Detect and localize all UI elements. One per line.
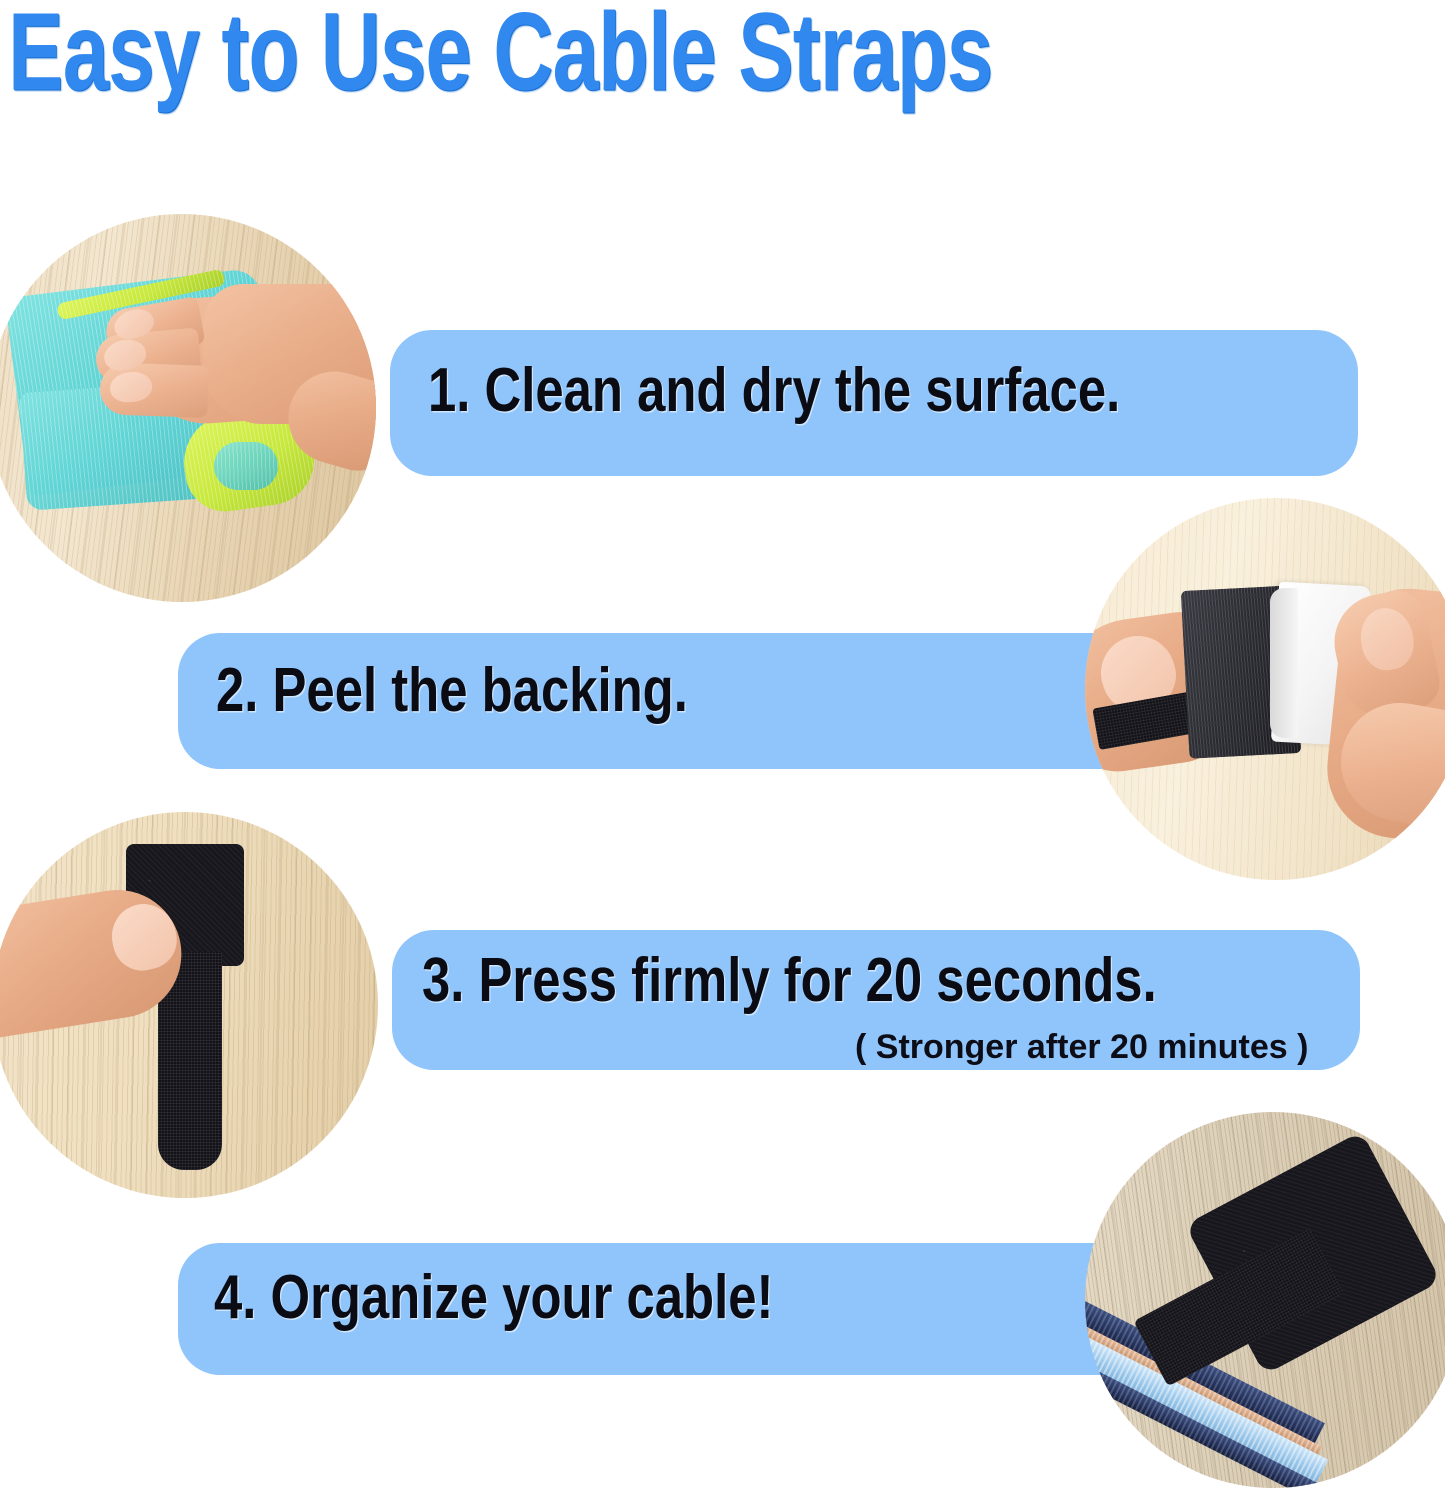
step-1-photo <box>0 214 376 602</box>
step-4-text: 4. Organize your cable! <box>214 1262 773 1333</box>
step-4-photo <box>1085 1112 1445 1488</box>
page-title: Easy to Use Cable Straps <box>8 0 992 113</box>
step-3-photo <box>0 812 378 1198</box>
lime-cloth-roll-inner <box>214 442 278 490</box>
step-1-text: 1. Clean and dry the surface. <box>428 355 1120 426</box>
step-3-text: 3. Press firmly for 20 seconds. <box>422 945 1157 1016</box>
step-3-subtext: ( Stronger after 20 minutes ) <box>855 1028 1308 1067</box>
step-2-photo <box>1085 498 1445 880</box>
step-2-text: 2. Peel the backing. <box>216 655 688 726</box>
white-backing-curl <box>1270 588 1298 738</box>
infographic-page: Easy to Use Cable Straps 1. Clean and dr… <box>0 0 1445 1488</box>
